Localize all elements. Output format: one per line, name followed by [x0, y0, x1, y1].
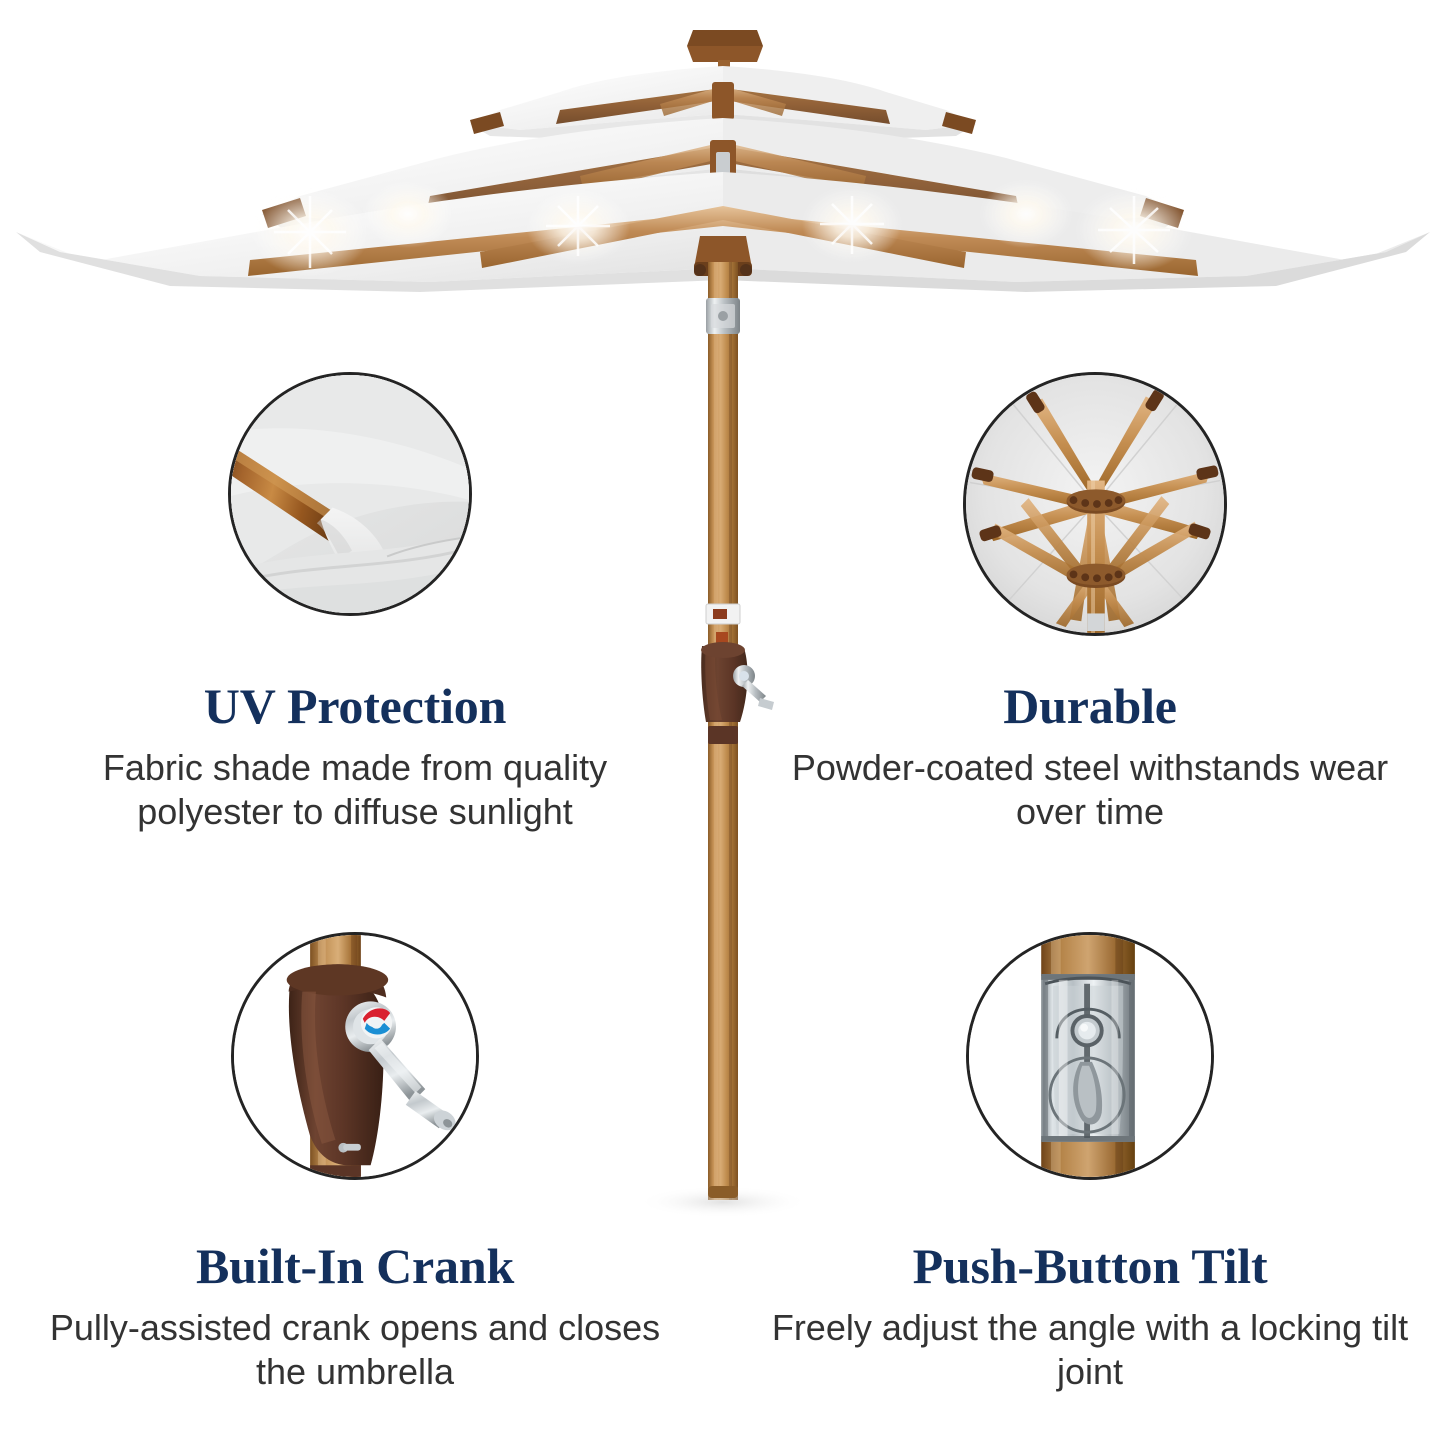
- feature-description: Pully-assisted crank opens and closes th…: [30, 1306, 680, 1394]
- feature-title: Push-Button Tilt: [765, 1238, 1415, 1294]
- feature-push-button-tilt: Push-Button Tilt Freely adjust the angle…: [765, 1238, 1415, 1394]
- feature-durable: Durable Powder-coated steel withstands w…: [765, 678, 1415, 834]
- tilt-joint-hardware: [706, 298, 740, 334]
- feature-description: Freely adjust the angle with a locking t…: [765, 1306, 1415, 1394]
- feature-title: Built-In Crank: [30, 1238, 680, 1294]
- feature-title: Durable: [765, 678, 1415, 734]
- crank-assembly: [701, 642, 774, 744]
- callout-crank-handle-detail: [231, 932, 479, 1180]
- crank-sticker: [361, 1007, 392, 1038]
- feature-title: UV Protection: [30, 678, 680, 734]
- push-button: [1070, 1014, 1103, 1047]
- callout-tilt-joint-detail: [966, 932, 1214, 1180]
- rib-hub-lower: [1067, 564, 1126, 588]
- product-umbrella-image: [0, 0, 1445, 1260]
- feature-description: Fabric shade made from quality polyester…: [30, 746, 680, 834]
- feature-uv-protection: UV Protection Fabric shade made from qua…: [30, 678, 680, 834]
- infographic-canvas: UV Protection Fabric shade made from qua…: [0, 0, 1445, 1445]
- callout-canopy-underside-ribs-detail: [963, 372, 1227, 636]
- feature-description: Powder-coated steel withstands wear over…: [765, 746, 1415, 834]
- rib-hub-upper: [1067, 489, 1126, 513]
- feature-built-in-crank: Built-In Crank Pully-assisted crank open…: [30, 1238, 680, 1394]
- callout-fabric-edge-detail: [228, 372, 472, 616]
